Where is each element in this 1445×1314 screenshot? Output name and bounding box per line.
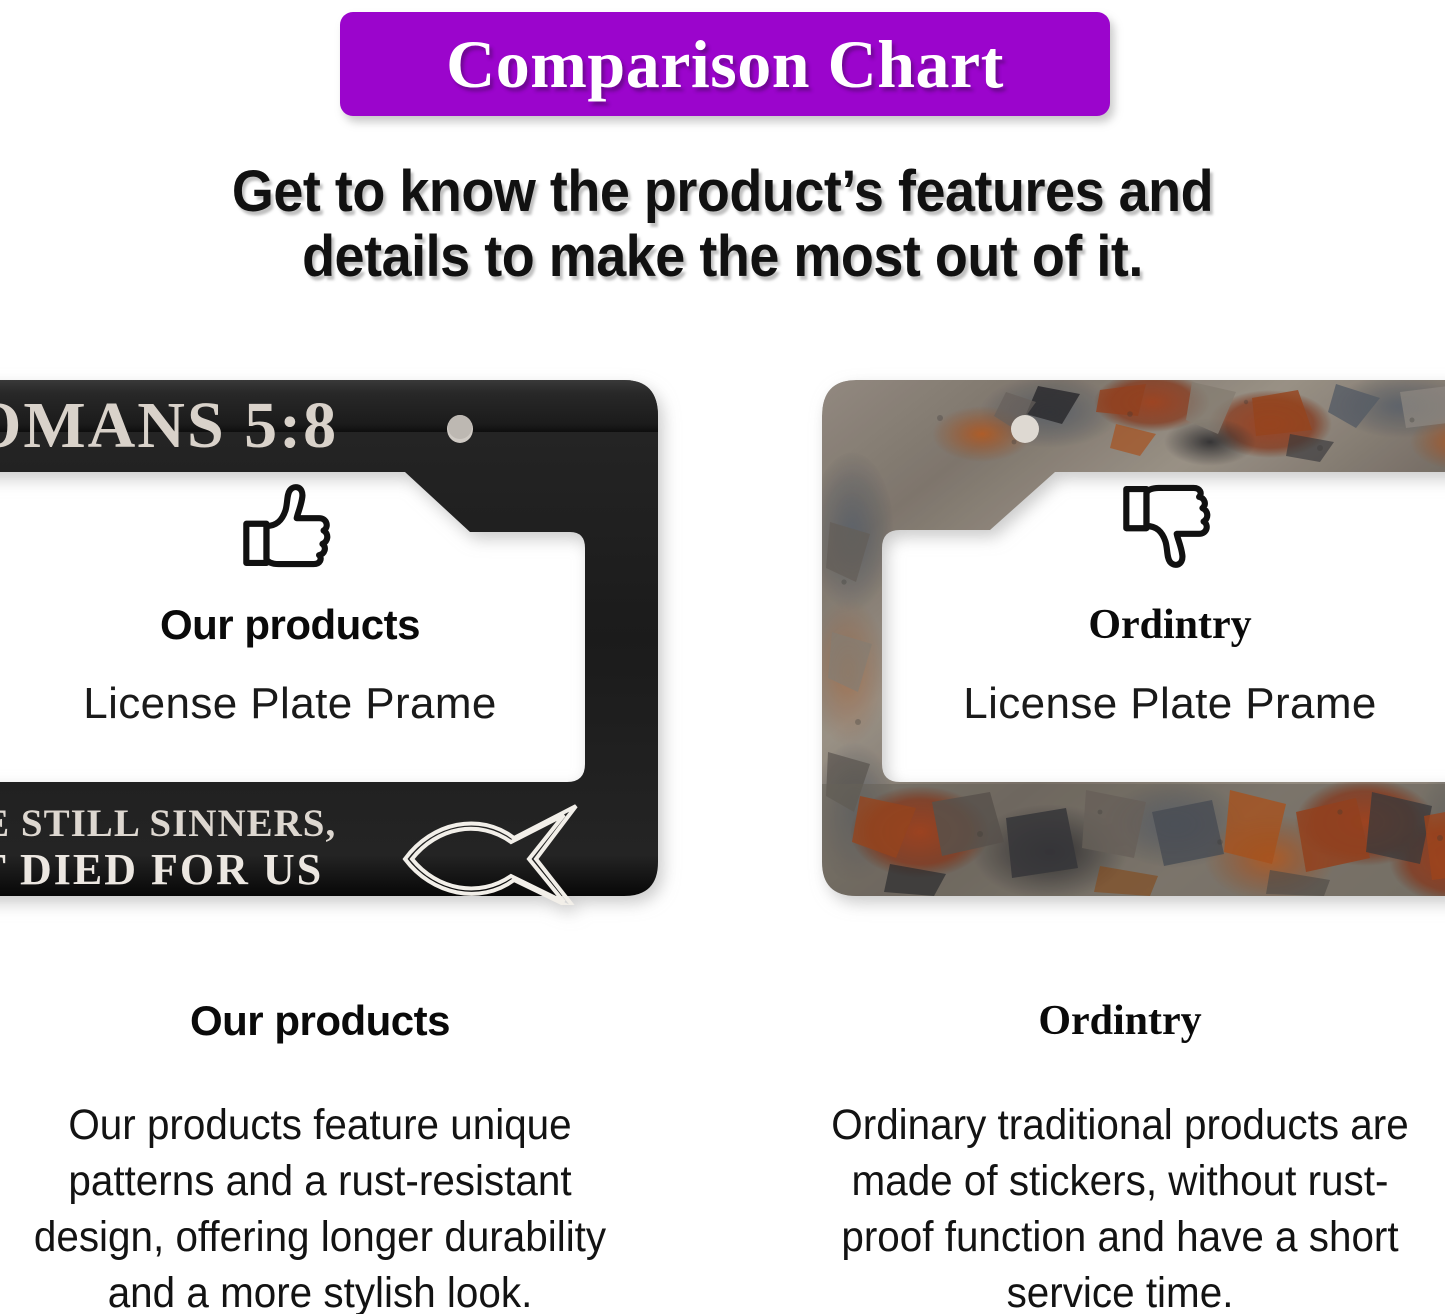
card-subtitle-our-products: License Plate Prame [55, 682, 525, 726]
frame-bottom-engraving-line1: RE STILL SINNERS, [0, 802, 336, 845]
card-subtitle-ordintry: License Plate Prame [935, 682, 1405, 726]
comparison-column-ordintry: Ordintry Ordinary traditional products a… [775, 1000, 1445, 1314]
thumbs-down-icon [1114, 470, 1226, 582]
comparison-chart-banner: Comparison Chart [340, 12, 1110, 116]
thumbs-up-icon [234, 470, 346, 582]
frame-top-engraving: OMANS 5:8 [0, 389, 338, 462]
card-title-our-products: Our products [55, 604, 525, 646]
subtitle-line-2: details to make the most out of it. [51, 225, 1395, 290]
page-subtitle: Get to know the product’s features and d… [51, 160, 1395, 290]
comparison-heading-ordintry: Ordintry [775, 1000, 1445, 1042]
card-ordintry: Ordintry License Plate Prame [935, 470, 1405, 726]
mounting-hole-icon [1011, 415, 1039, 443]
comparison-body-ordintry: Ordinary traditional products are made o… [796, 1098, 1445, 1314]
subtitle-line-1: Get to know the product’s features and [51, 160, 1395, 225]
page-title: Comparison Chart [446, 30, 1004, 98]
frame-bottom-engraving-line2: ST DIED FOR US [0, 845, 323, 894]
mounting-hole-inner [448, 415, 472, 439]
comparison-body-our-products: Our products feature unique patterns and… [0, 1098, 644, 1314]
card-our-products: Our products License Plate Prame [55, 470, 525, 726]
comparison-chart-page: Comparison Chart Get to know the product… [0, 0, 1445, 1314]
comparison-column-our-products: Our products Our products feature unique… [0, 1000, 665, 1314]
card-title-ordintry: Ordintry [935, 604, 1405, 646]
comparison-heading-our-products: Our products [0, 1000, 665, 1042]
